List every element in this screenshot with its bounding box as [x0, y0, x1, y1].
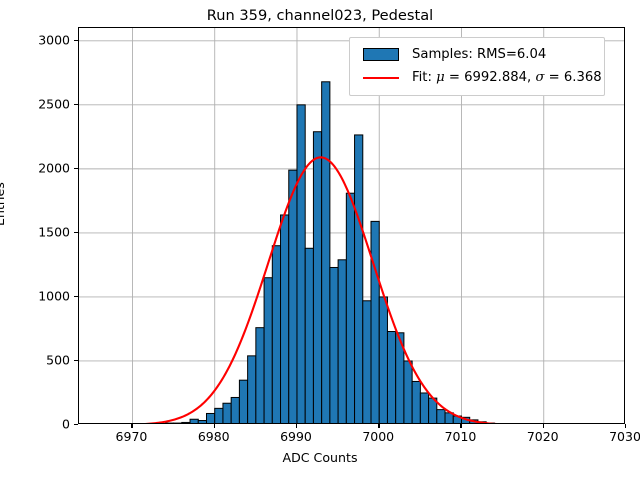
legend-fit-sigma-value: = 6.368 — [544, 70, 601, 85]
histogram-bar — [223, 403, 231, 424]
histogram-bar — [363, 301, 371, 424]
histogram-bar — [305, 248, 313, 424]
legend-line-icon — [358, 69, 404, 87]
histogram-bar — [281, 215, 289, 424]
histogram-bar — [371, 221, 379, 424]
y-tick-label-2000: 2000 — [8, 160, 70, 175]
x-tick-label-7020: 7020 — [513, 429, 573, 444]
x-tick-mark — [296, 424, 297, 428]
legend-box[interactable]: Samples: RMS=6.04 Fit: μ = 6992.884, σ =… — [349, 37, 605, 96]
legend-item-fit[interactable]: Fit: μ = 6992.884, σ = 6.368 — [358, 66, 596, 89]
histogram-bar — [412, 381, 420, 424]
histogram-bar — [190, 419, 198, 424]
histogram-bar — [198, 421, 206, 424]
legend-patch-icon — [358, 46, 404, 64]
legend-label-samples: Samples: RMS=6.04 — [404, 47, 546, 62]
x-axis-label: ADC Counts — [0, 450, 640, 465]
histogram-bar — [322, 82, 330, 424]
y-tick-label-500: 500 — [8, 352, 70, 367]
histogram-bar — [206, 413, 214, 424]
x-tick-mark — [543, 424, 544, 428]
y-tick-label-1500: 1500 — [8, 224, 70, 239]
histogram-bar — [256, 328, 264, 424]
histogram-bar — [313, 132, 321, 424]
y-tick-mark — [74, 424, 78, 425]
page-title: Run 359, channel023, Pedestal — [0, 7, 640, 24]
histogram-bar — [420, 393, 428, 424]
y-axis-label: Entries — [0, 182, 7, 226]
histogram-bar — [239, 380, 247, 424]
histogram-bar — [174, 423, 182, 424]
y-tick-label-2500: 2500 — [8, 96, 70, 111]
histogram-bar — [248, 356, 256, 424]
x-tick-label-6970: 6970 — [101, 429, 161, 444]
histogram-bar — [404, 361, 412, 424]
legend-label-fit: Fit: μ = 6992.884, σ = 6.368 — [404, 70, 602, 85]
x-tick-mark — [131, 424, 132, 428]
figure-canvas: Run 359, channel023, Pedestal Entries AD… — [0, 0, 640, 480]
x-tick-mark — [214, 424, 215, 428]
histogram-bar — [486, 423, 494, 424]
histogram-bar — [338, 260, 346, 424]
histogram-bars — [165, 82, 502, 424]
x-tick-label-7030: 7030 — [595, 429, 640, 444]
x-tick-label-6990: 6990 — [266, 429, 326, 444]
x-tick-label-7010: 7010 — [430, 429, 490, 444]
legend-fit-prefix: Fit: — [412, 70, 436, 85]
y-tick-label-3000: 3000 — [8, 32, 70, 47]
histogram-bar — [355, 135, 363, 424]
histogram-bar — [215, 408, 223, 424]
histogram-bar — [289, 170, 297, 424]
histogram-bar — [346, 193, 354, 424]
x-tick-mark — [378, 424, 379, 428]
histogram-bar — [437, 410, 445, 424]
x-tick-mark — [460, 424, 461, 428]
legend-fit-mu-value: = 6992.884, — [445, 70, 536, 85]
histogram-bar — [182, 422, 190, 424]
histogram-bar — [387, 332, 395, 424]
histogram-bar — [165, 423, 173, 424]
histogram-bar — [297, 105, 305, 424]
histogram-bar — [330, 267, 338, 424]
x-tick-label-6980: 6980 — [184, 429, 244, 444]
x-tick-mark — [625, 424, 626, 428]
y-tick-label-1000: 1000 — [8, 288, 70, 303]
legend-item-samples[interactable]: Samples: RMS=6.04 — [358, 43, 596, 66]
y-tick-label-0: 0 — [8, 417, 70, 432]
histogram-bar — [264, 278, 272, 424]
histogram-bar — [231, 397, 239, 424]
histogram-bar — [272, 246, 280, 424]
x-tick-label-7000: 7000 — [348, 429, 408, 444]
legend-fit-mu-symbol: μ — [436, 70, 445, 85]
histogram-bar — [379, 297, 387, 424]
